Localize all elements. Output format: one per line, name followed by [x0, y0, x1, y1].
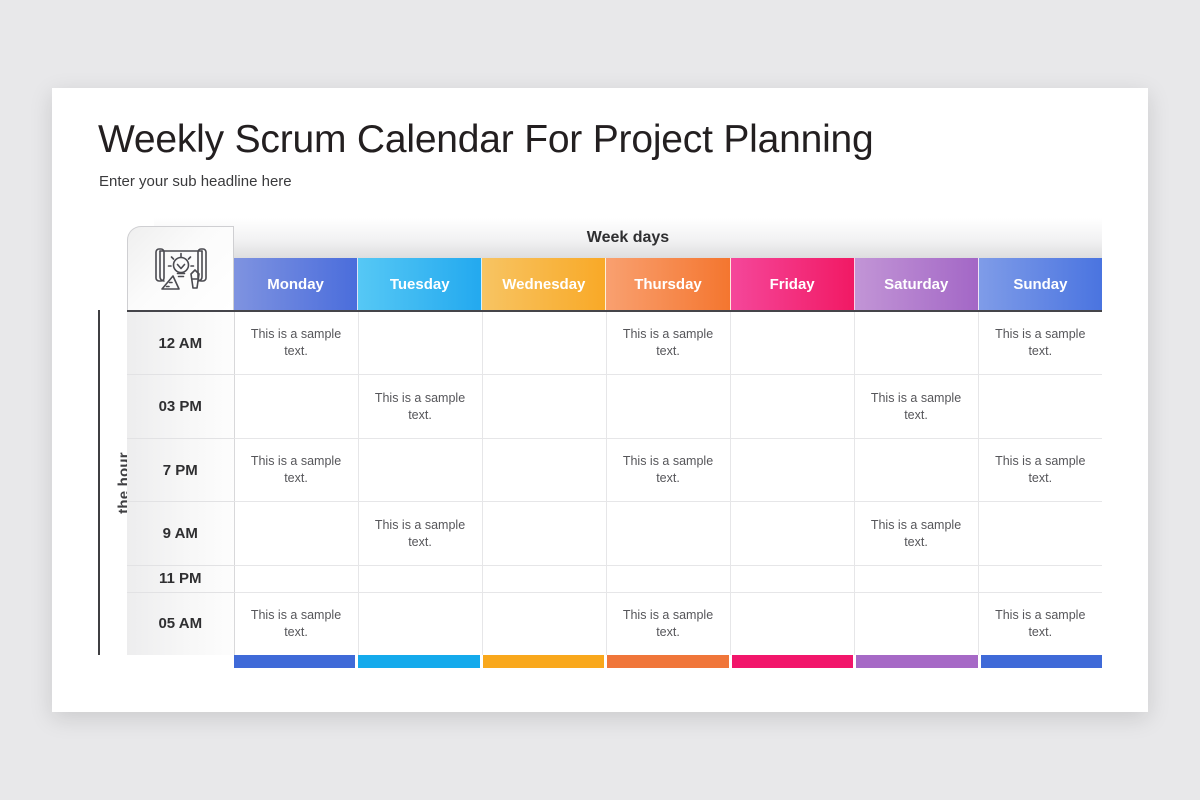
calendar-cell-sunday-3[interactable]: [978, 502, 1102, 566]
day-header-label: Wednesday: [502, 276, 585, 293]
calendar-cell-tuesday-1[interactable]: This is a sample text.: [358, 375, 482, 439]
calendar-cell-friday-3[interactable]: [730, 502, 854, 566]
calendar-cell-monday-1[interactable]: [234, 375, 358, 439]
weekdays-banner: Week days: [154, 218, 1102, 258]
color-strip-sunday: [981, 655, 1102, 668]
calendar-cell-thursday-5[interactable]: This is a sample text.: [606, 592, 730, 655]
hour-label-cell: 7 PM: [127, 438, 234, 502]
color-strip-tuesday: [358, 655, 479, 668]
day-header-label: Monday: [267, 276, 324, 293]
calendar-cell-wednesday-2[interactable]: [482, 438, 606, 502]
day-header-label: Sunday: [1013, 276, 1067, 293]
calendar-cell-monday-5[interactable]: This is a sample text.: [234, 592, 358, 655]
page-title: Weekly Scrum Calendar For Project Planni…: [98, 118, 874, 162]
calendar-cell-sunday-4[interactable]: [978, 565, 1102, 592]
calendar-cell-friday-1[interactable]: [730, 375, 854, 439]
hour-label-cell: 05 AM: [127, 592, 234, 655]
calendar-cell-thursday-4[interactable]: [606, 565, 730, 592]
calendar-cell-wednesday-1[interactable]: [482, 375, 606, 439]
hour-label-cell: 11 PM: [127, 565, 234, 592]
color-strip-saturday: [856, 655, 977, 668]
calendar-cell-friday-2[interactable]: [730, 438, 854, 502]
calendar-cell-sunday-0[interactable]: This is a sample text.: [978, 312, 1102, 375]
calendar-cell-saturday-5[interactable]: [854, 592, 978, 655]
calendar-cell-friday-5[interactable]: [730, 592, 854, 655]
calendar-cell-wednesday-4[interactable]: [482, 565, 606, 592]
calendar-row: 03 PMThis is a sample text.This is a sam…: [127, 375, 1102, 439]
weekdays-banner-label: Week days: [154, 229, 1102, 247]
day-header-label: Saturday: [884, 276, 948, 293]
day-header-wednesday[interactable]: Wednesday: [482, 258, 606, 310]
hour-label-cell: 12 AM: [127, 312, 234, 375]
day-header-friday[interactable]: Friday: [731, 258, 855, 310]
calendar-cell-monday-4[interactable]: [234, 565, 358, 592]
calendar-cell-tuesday-4[interactable]: [358, 565, 482, 592]
calendar-cell-tuesday-3[interactable]: This is a sample text.: [358, 502, 482, 566]
color-strip-wednesday: [483, 655, 604, 668]
calendar-cell-thursday-0[interactable]: This is a sample text.: [606, 312, 730, 375]
calendar-cell-friday-0[interactable]: [730, 312, 854, 375]
color-strip-thursday: [607, 655, 728, 668]
day-header-monday[interactable]: Monday: [234, 258, 358, 310]
calendar-cell-monday-0[interactable]: This is a sample text.: [234, 312, 358, 375]
calendar-row: 9 AMThis is a sample text.This is a samp…: [127, 502, 1102, 566]
day-header-label: Friday: [770, 276, 815, 293]
day-header-row: MondayTuesdayWednesdayThursdayFridaySatu…: [234, 258, 1102, 310]
page-subtitle: Enter your sub headline here: [99, 173, 292, 190]
calendar-cell-sunday-2[interactable]: This is a sample text.: [978, 438, 1102, 502]
hour-label-cell: 9 AM: [127, 502, 234, 566]
calendar-cell-saturday-1[interactable]: This is a sample text.: [854, 375, 978, 439]
calendar-cell-sunday-1[interactable]: [978, 375, 1102, 439]
day-header-label: Thursday: [634, 276, 702, 293]
bottom-color-strip: [234, 655, 1102, 668]
hour-label-cell: 03 PM: [127, 375, 234, 439]
calendar-row: 05 AMThis is a sample text.This is a sam…: [127, 592, 1102, 655]
color-strip-friday: [732, 655, 853, 668]
calendar-cell-thursday-1[interactable]: [606, 375, 730, 439]
calendar-cell-wednesday-0[interactable]: [482, 312, 606, 375]
day-header-thursday[interactable]: Thursday: [606, 258, 730, 310]
calendar-cell-monday-2[interactable]: This is a sample text.: [234, 438, 358, 502]
calendar-cell-tuesday-2[interactable]: [358, 438, 482, 502]
calendar-cell-sunday-5[interactable]: This is a sample text.: [978, 592, 1102, 655]
calendar-row: 11 PM: [127, 565, 1102, 592]
calendar-cell-friday-4[interactable]: [730, 565, 854, 592]
weekly-calendar: the hour Week days: [98, 218, 1102, 668]
calendar-cell-tuesday-5[interactable]: [358, 592, 482, 655]
color-strip-monday: [234, 655, 355, 668]
calendar-cell-wednesday-3[interactable]: [482, 502, 606, 566]
calendar-cell-saturday-3[interactable]: This is a sample text.: [854, 502, 978, 566]
day-header-sunday[interactable]: Sunday: [979, 258, 1102, 310]
calendar-cell-saturday-4[interactable]: [854, 565, 978, 592]
calendar-cell-thursday-3[interactable]: [606, 502, 730, 566]
calendar-cell-saturday-0[interactable]: [854, 312, 978, 375]
calendar-grid: 12 AMThis is a sample text.This is a sam…: [127, 310, 1102, 655]
calendar-cell-saturday-2[interactable]: [854, 438, 978, 502]
calendar-cell-wednesday-5[interactable]: [482, 592, 606, 655]
day-header-saturday[interactable]: Saturday: [855, 258, 979, 310]
calendar-cell-thursday-2[interactable]: This is a sample text.: [606, 438, 730, 502]
calendar-row: 12 AMThis is a sample text.This is a sam…: [127, 312, 1102, 375]
day-header-label: Tuesday: [390, 276, 450, 293]
calendar-cell-tuesday-0[interactable]: [358, 312, 482, 375]
calendar-row: 7 PMThis is a sample text.This is a samp…: [127, 438, 1102, 502]
blueprint-idea-icon: [127, 226, 234, 310]
slide-canvas: Weekly Scrum Calendar For Project Planni…: [52, 88, 1148, 712]
calendar-cell-monday-3[interactable]: [234, 502, 358, 566]
day-header-tuesday[interactable]: Tuesday: [358, 258, 482, 310]
